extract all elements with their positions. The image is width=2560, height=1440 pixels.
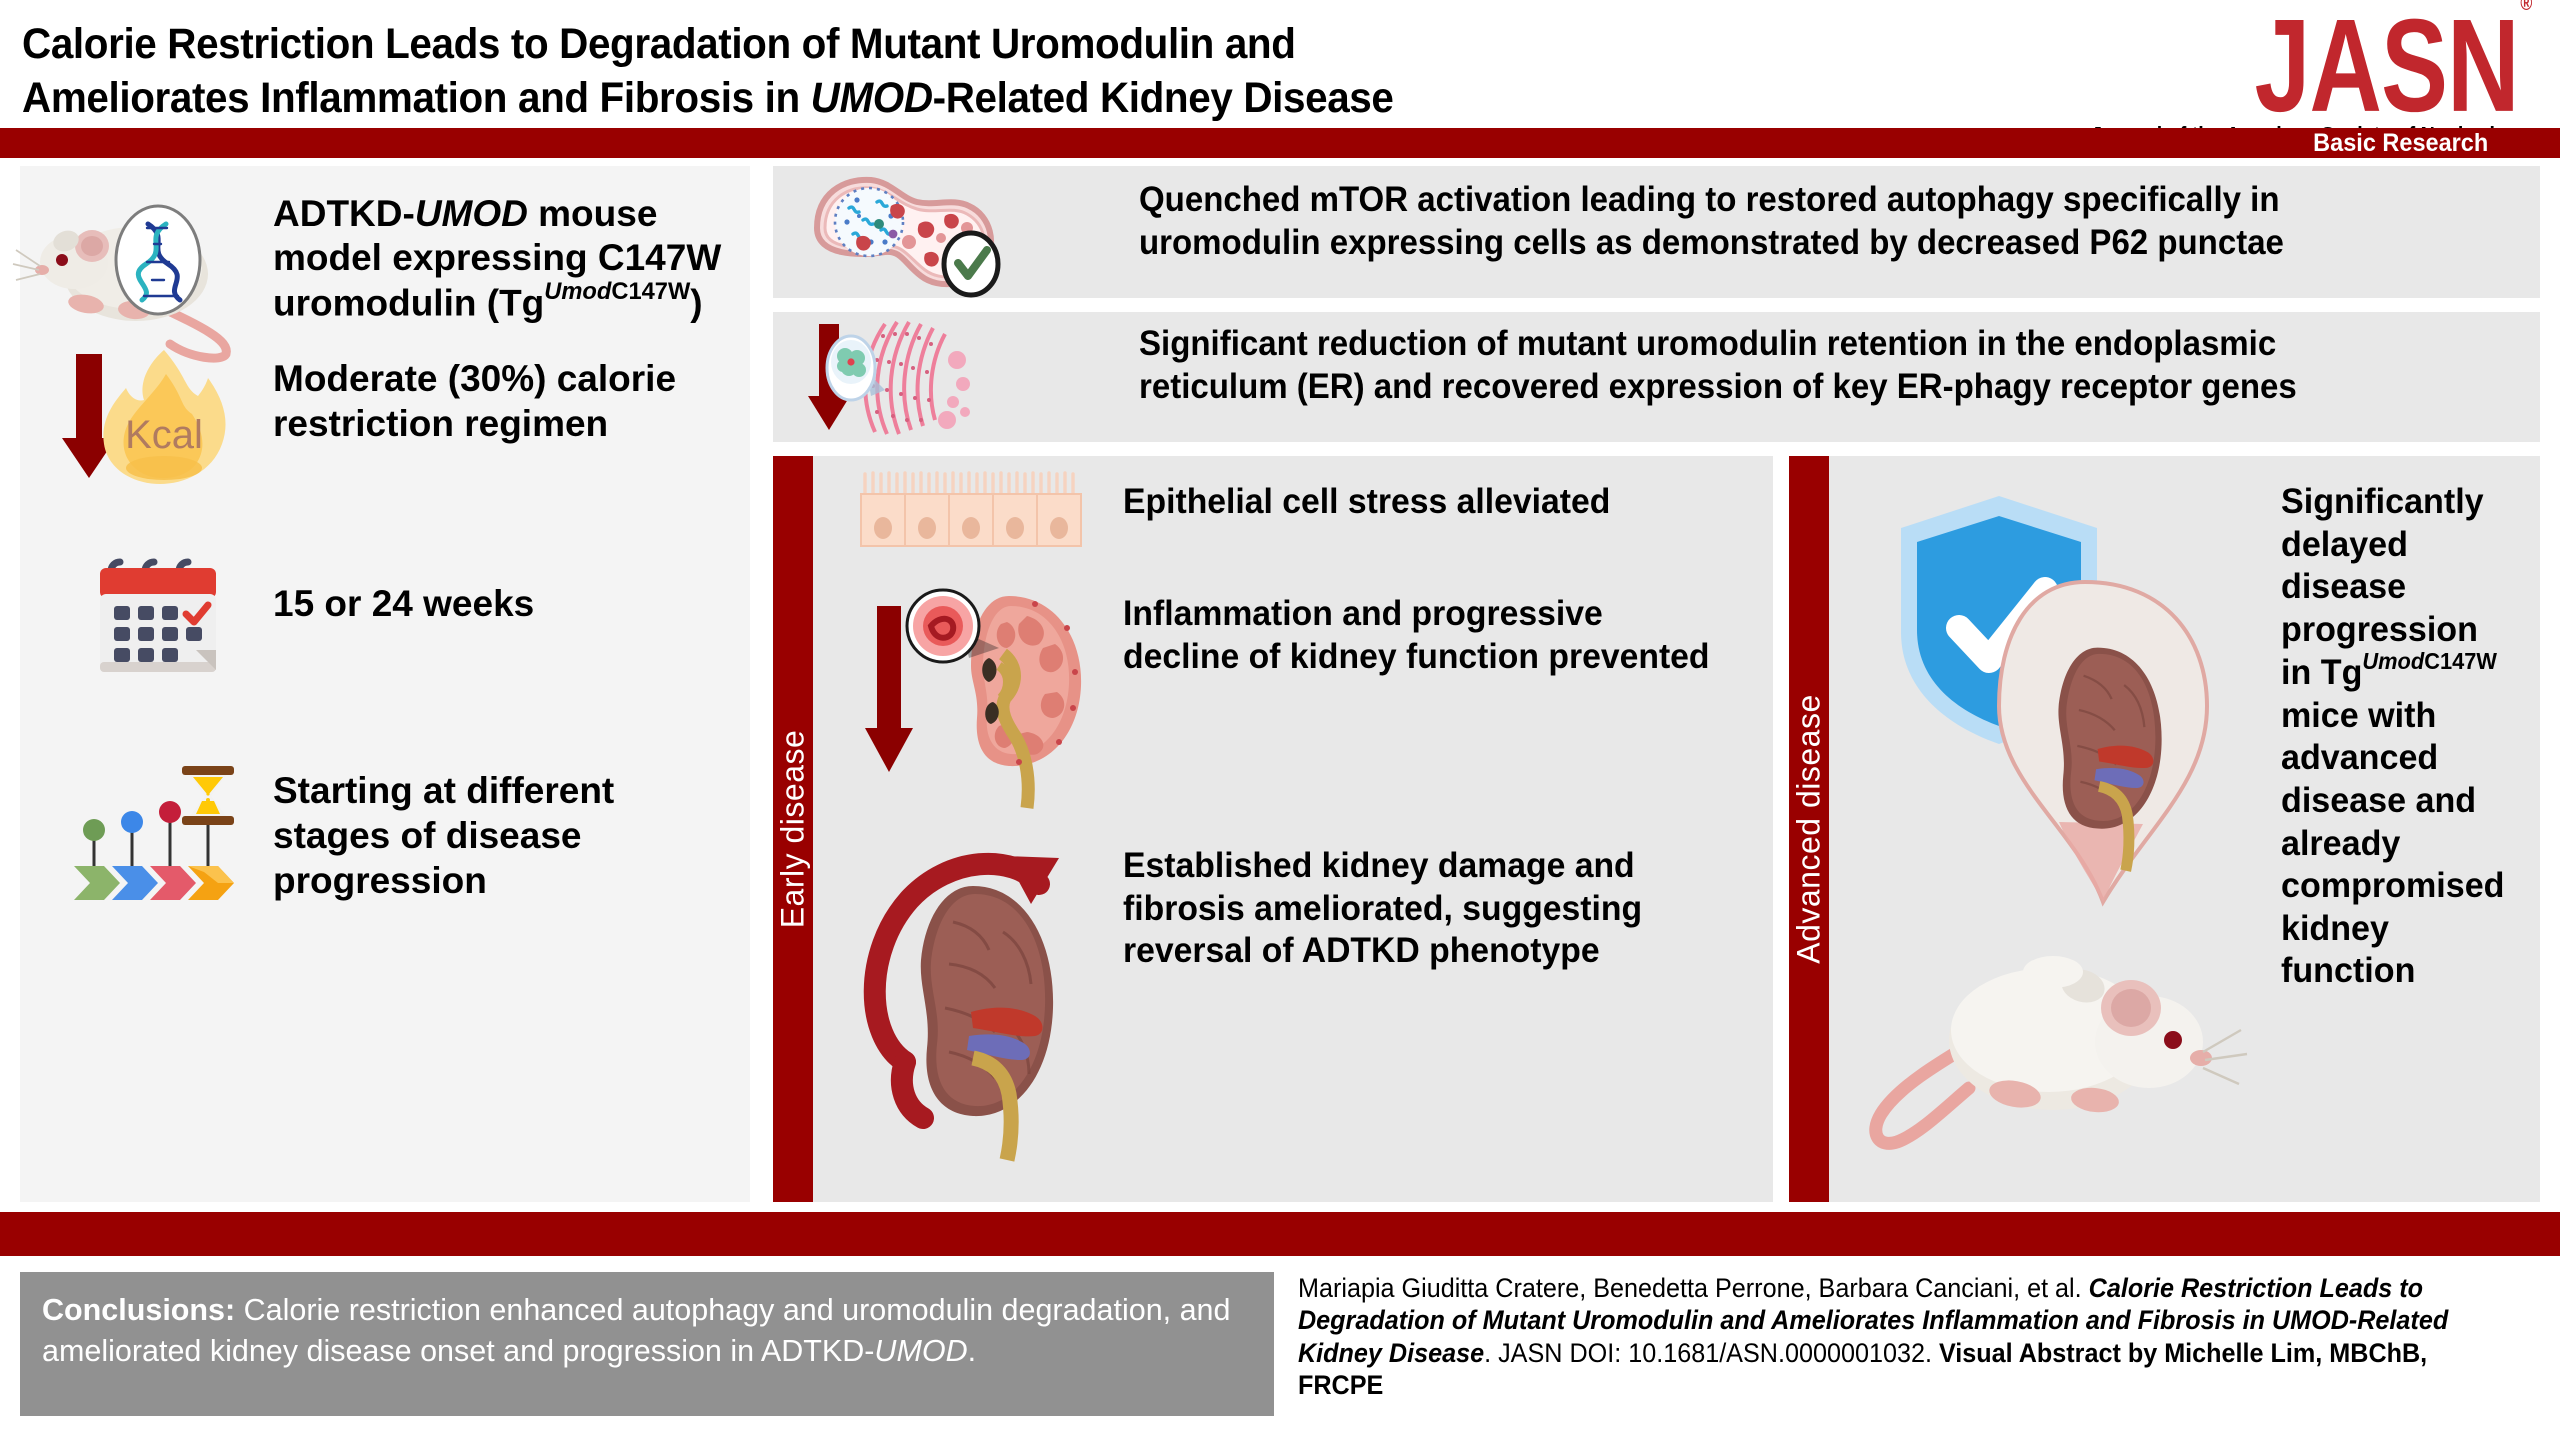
section-band: Basic Research	[0, 128, 2560, 158]
registered-trademark-icon: ®	[2521, 0, 2532, 15]
footer-divider-band	[0, 1212, 2560, 1256]
journal-logo-block: JASN® Journal of the American Society of…	[1910, 0, 2530, 147]
calendar-icon	[88, 544, 228, 684]
kidney-reversal-arrow-icon	[853, 822, 1103, 1162]
early-item-3-text: Established kidney damage and fibrosis a…	[1123, 844, 1712, 972]
left-item-1-text: ADTKD-UMOD mouse model expressing C147W …	[273, 192, 728, 326]
left-item-1-text-a: ADTKD-	[273, 193, 415, 234]
jasn-logo: JASN®	[2255, 0, 2530, 132]
jasn-logo-text: JASN	[2255, 0, 2519, 140]
early-disease-sidebar: Early disease	[773, 456, 813, 1202]
advanced-sup-rest: C147W	[2424, 648, 2497, 674]
advanced-text-b: mice with advanced disease and already c…	[2281, 695, 2504, 991]
left-item-2-text: Moderate (30%) calorie restriction regim…	[273, 356, 703, 446]
title-line-2-a: Ameliorates Inflammation and Fibrosis in	[22, 74, 811, 122]
section-label: Basic Research	[2313, 128, 2488, 158]
citation-doi: . JASN DOI: 10.1681/ASN.0000001032.	[1484, 1338, 1939, 1368]
page-title: Calorie Restriction Leads to Degradation…	[22, 18, 1432, 126]
left-item-1-sup-rest: C147W	[611, 279, 690, 305]
conclusions-box: Conclusions: Calorie restriction enhance…	[20, 1272, 1274, 1416]
kcal-label: Kcal	[125, 413, 203, 457]
advanced-disease-sidebar: Advanced disease	[1789, 456, 1829, 1202]
advanced-superscript: UmodC147W	[2362, 648, 2497, 674]
title-gene-italic: UMOD	[811, 74, 933, 122]
title-line-2-b: -Related Kidney Disease	[933, 74, 1394, 122]
left-item-1-gene: UMOD	[415, 193, 528, 234]
autophagy-panel: Quenched mTOR activation leading to rest…	[773, 166, 2540, 298]
advanced-disease-sidebar-label: Advanced disease	[1791, 694, 1828, 964]
conclusions-label: Conclusions:	[42, 1293, 235, 1327]
left-item-1-sup-italic: Umod	[544, 279, 611, 305]
citation-authors: Mariapia Giuditta Cratere, Benedetta Per…	[1298, 1273, 2089, 1303]
left-item-4-text: Starting at different stages of disease …	[273, 768, 703, 903]
advanced-disease-text: Significantly delayed disease progressio…	[2281, 480, 2511, 992]
epithelial-cells-icon	[855, 470, 1085, 548]
mouse-dna-icon	[30, 188, 270, 363]
title-line-1: Calorie Restriction Leads to Degradation…	[22, 20, 1296, 68]
shield-check-kidney-mouse-icon	[1847, 482, 2247, 1172]
citation-block: Mariapia Giuditta Cratere, Benedetta Per…	[1298, 1272, 2484, 1401]
left-item-1-superscript: UmodC147W	[544, 279, 690, 305]
left-item-3-text: 15 or 24 weeks	[273, 581, 703, 626]
conclusions-gene-italic: UMOD	[874, 1334, 967, 1368]
er-retention-panel: Significant reduction of mutant uromodul…	[773, 312, 2540, 442]
stages-hourglass-icon	[70, 744, 245, 904]
autophagy-panel-text: Quenched mTOR activation leading to rest…	[1139, 178, 2432, 263]
left-column-panel: ADTKD-UMOD mouse model expressing C147W …	[20, 166, 750, 1202]
advanced-sup-italic: Umod	[2362, 648, 2424, 674]
left-item-1-text-c: )	[690, 282, 702, 323]
early-item-1-text: Epithelial cell stress alleviated	[1123, 480, 1712, 523]
conclusions-text-b: .	[968, 1334, 976, 1368]
advanced-disease-panel: Advanced disease	[1789, 456, 2540, 1202]
kidney-inflammation-down-arrow-icon	[859, 582, 1099, 812]
visual-abstract-page: Calorie Restriction Leads to Degradation…	[0, 0, 2560, 1440]
early-disease-sidebar-label: Early disease	[775, 730, 812, 929]
er-retention-panel-text: Significant reduction of mutant uromodul…	[1139, 322, 2432, 407]
er-reticulum-down-arrow-icon	[797, 316, 1017, 440]
autophagosome-check-icon	[805, 172, 1015, 294]
early-disease-panel: Early disease	[773, 456, 1773, 1202]
early-item-2-text: Inflammation and progressive decline of …	[1123, 592, 1712, 677]
kcal-flame-down-arrow-icon: Kcal	[38, 344, 268, 494]
